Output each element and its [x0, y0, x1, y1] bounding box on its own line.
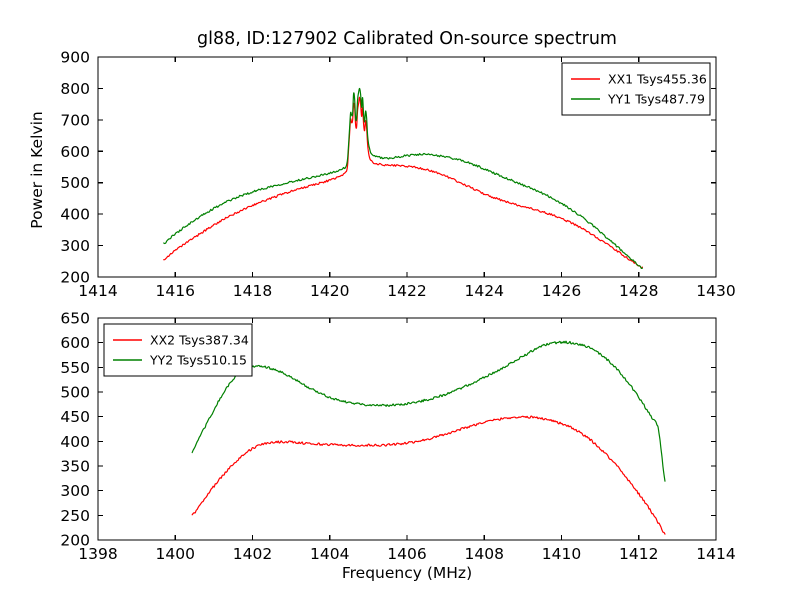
y-tick-label: 500	[60, 384, 90, 402]
y-tick-label: 200	[60, 532, 90, 550]
legend: XX1 Tsys455.36YY1 Tsys487.79	[562, 63, 710, 115]
legend-label: YY2 Tsys510.15	[149, 353, 247, 368]
x-tick-label: 1426	[542, 282, 581, 300]
legend-label: XX1 Tsys455.36	[608, 72, 707, 87]
y-tick-label: 900	[60, 49, 90, 67]
y-tick-label: 350	[60, 458, 90, 476]
y-tick-label: 250	[60, 507, 90, 525]
x-tick-label: 1420	[310, 282, 349, 300]
x-tick-label: 1410	[542, 545, 581, 563]
x-tick-label: 1416	[156, 282, 195, 300]
y-tick-label: 450	[60, 408, 90, 426]
x-axis-label: Frequency (MHz)	[342, 564, 472, 582]
x-tick-label: 1408	[465, 545, 504, 563]
y-axis-label: Power in Kelvin	[28, 111, 46, 228]
x-tick-label: 1428	[619, 282, 658, 300]
y-tick-label: 550	[60, 359, 90, 377]
y-tick-label: 400	[60, 433, 90, 451]
x-tick-label: 1424	[465, 282, 504, 300]
y-tick-label: 300	[60, 237, 90, 255]
x-tick-label: 1414	[696, 545, 735, 563]
y-tick-label: 700	[60, 111, 90, 129]
spectrum-plot-canvas: gl88, ID:127902 Calibrated On-source spe…	[0, 0, 800, 600]
y-tick-label: 600	[60, 143, 90, 161]
x-tick-label: 1402	[233, 545, 272, 563]
x-tick-label: 1400	[156, 545, 195, 563]
x-tick-label: 1430	[696, 282, 735, 300]
y-tick-label: 650	[60, 310, 90, 328]
y-tick-label: 500	[60, 174, 90, 192]
x-tick-label: 1404	[310, 545, 349, 563]
legend-label: YY1 Tsys487.79	[607, 92, 705, 107]
legend-label: XX2 Tsys387.34	[150, 333, 249, 348]
y-tick-label: 600	[60, 334, 90, 352]
y-tick-label: 800	[60, 80, 90, 98]
y-tick-label: 200	[60, 269, 90, 287]
y-tick-label: 400	[60, 206, 90, 224]
legend: XX2 Tsys387.34YY2 Tsys510.15	[104, 324, 252, 376]
x-tick-label: 1422	[387, 282, 426, 300]
x-tick-label: 1412	[619, 545, 658, 563]
y-tick-label: 300	[60, 482, 90, 500]
x-tick-label: 1418	[233, 282, 272, 300]
x-tick-label: 1406	[387, 545, 426, 563]
page-title: gl88, ID:127902 Calibrated On-source spe…	[197, 29, 617, 49]
matplotlib-figure: gl88, ID:127902 Calibrated On-source spe…	[0, 0, 800, 600]
